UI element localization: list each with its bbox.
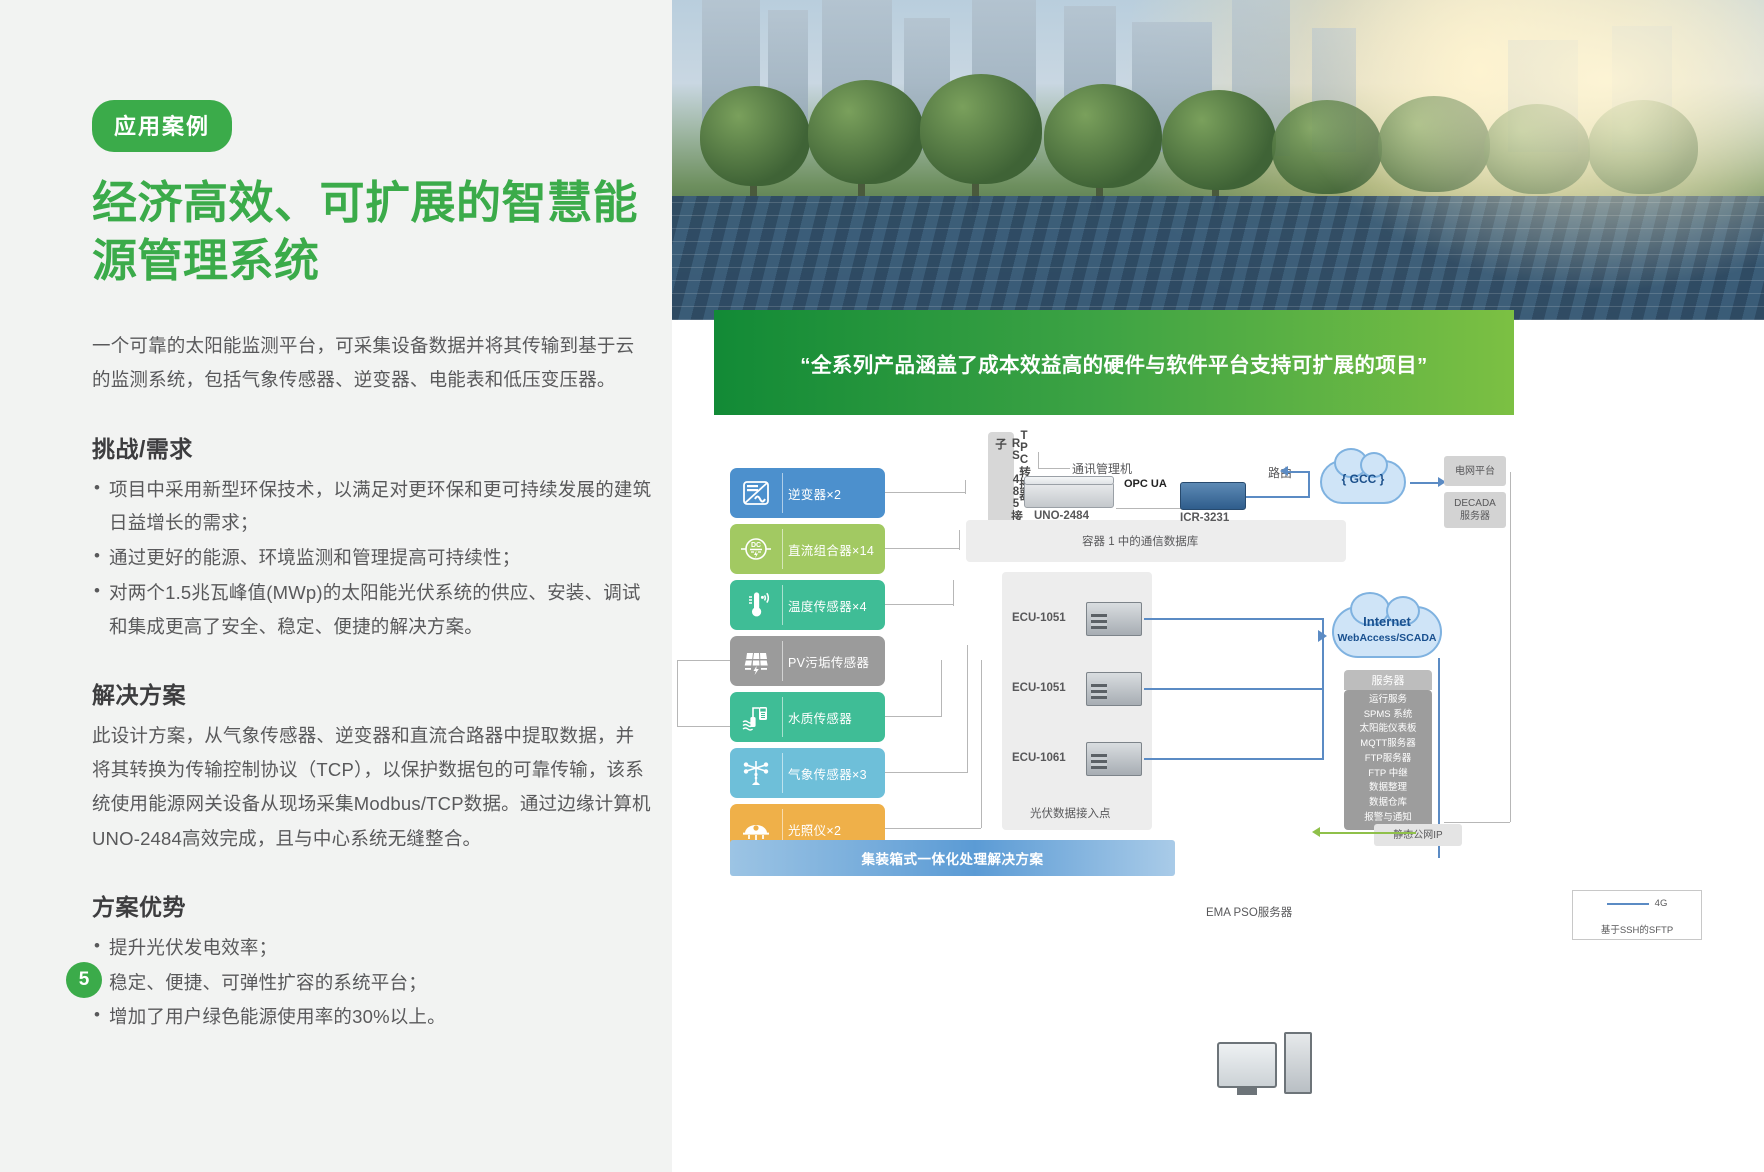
list-item: 稳定、便捷、可弹性扩容的系统平台； — [92, 966, 652, 1000]
challenge-bullet-list: 项目中采用新型环保技术，以满足对更环保和更可持续发展的建筑日益增长的需求； 通过… — [92, 473, 652, 644]
decada-line2: 服务器 — [1460, 510, 1490, 523]
list-item: 对两个1.5兆瓦峰值(MWp)的太阳能光伏系统的供应、安装、调试和集成更高了安全… — [92, 576, 652, 644]
section-heading-challenge: 挑战/需求 — [92, 430, 652, 464]
svg-text:DC: DC — [751, 542, 761, 549]
container-solution-banner: 集装箱式一体化处理解决方案 — [730, 840, 1175, 876]
dc-combiner-icon: DC — [730, 524, 782, 574]
device-label: 水质传感器 — [782, 708, 885, 727]
pv-soiling-sensor-icon — [730, 636, 782, 686]
hero-photo — [672, 0, 1764, 320]
device-label: 光照仪×2 — [782, 820, 885, 839]
ecu-device-1 — [1086, 602, 1142, 636]
webaccess-scada-label: WebAccess/SCADA — [1328, 632, 1446, 644]
uno-2484-device — [1024, 482, 1114, 508]
solution-paragraph: 此设计方案，从气象传感器、逆变器和直流合路器中提取数据，并将其转换为传输控制协议… — [92, 719, 652, 856]
list-item: 运行服务 — [1344, 693, 1432, 708]
ecu-label-1: ECU-1051 — [1012, 612, 1066, 624]
ema-pso-label: EMA PSO服务器 — [1206, 904, 1292, 920]
list-item: 提升光伏发电效率； — [92, 931, 652, 965]
solar-panel-field — [672, 196, 1764, 320]
case-study-badge: 应用案例 — [92, 100, 232, 152]
opc-ua-badge: OPC UA — [1124, 478, 1167, 490]
container-db-label: 容器 1 中的通信数据库 — [1082, 533, 1198, 549]
legend-line-solid-icon — [1607, 903, 1649, 905]
inverter-icon — [730, 468, 782, 518]
comm-manager-label: 通讯管理机 — [1072, 460, 1132, 477]
list-item: SPMS 系统 — [1344, 708, 1432, 723]
server-tower-icon — [1284, 1032, 1312, 1094]
icr-3231-label: ICR-3231 — [1180, 512, 1229, 524]
section-heading-benefits: 方案优势 — [92, 888, 652, 922]
legend-label: 4G — [1655, 898, 1668, 909]
legend-box: 4G 基于SSH的SFTP — [1572, 890, 1702, 940]
list-item: 太阳能仪表板 — [1344, 722, 1432, 737]
device-label: 直流组合器×14 — [782, 540, 885, 559]
list-item: FTP服务器 — [1344, 752, 1432, 767]
device-inverter[interactable]: 逆变器×2 — [730, 468, 885, 518]
temperature-sensor-icon — [730, 580, 782, 630]
page-number-badge: 5 — [66, 962, 102, 998]
section-heading-solution: 解决方案 — [92, 676, 652, 710]
legend-row-sftp: 基于SSH的SFTP — [1573, 916, 1701, 941]
monitor-stand-icon — [1237, 1088, 1257, 1095]
system-architecture-diagram: 逆变器×2 DC 直流组合器×14 — [672, 420, 1764, 1172]
decada-line1: DECADA — [1454, 497, 1496, 510]
legend-row-4g: 4G — [1573, 891, 1701, 916]
device-water-quality-sensor[interactable]: 水质传感器 — [730, 692, 885, 742]
monitor-icon — [1217, 1042, 1277, 1088]
device-label: 逆变器×2 — [782, 484, 885, 503]
list-item: 增加了用户绿色能源使用率的30%以上。 — [92, 1000, 652, 1034]
device-temperature-sensor[interactable]: 温度传感器×4 — [730, 580, 885, 630]
icr-3231-device — [1180, 482, 1246, 510]
left-content: 应用案例 经济高效、可扩展的智慧能源管理系统 一个可靠的太阳能监测平台，可采集设… — [92, 0, 652, 1035]
device-pv-soiling-sensor[interactable]: PV污垢传感器 — [730, 636, 885, 686]
internet-label: Internet — [1332, 614, 1442, 629]
device-weather-sensor[interactable]: 气象传感器×3 — [730, 748, 885, 798]
uno-2484-label: UNO-2484 — [1034, 510, 1089, 522]
left-article-panel: 应用案例 经济高效、可扩展的智慧能源管理系统 一个可靠的太阳能监测平台，可采集设… — [0, 0, 672, 1172]
decada-server-box: DECADA 服务器 — [1444, 492, 1506, 528]
grid-platform-box: 电网平台 — [1444, 456, 1506, 486]
ecu-label-2: ECU-1051 — [1012, 682, 1066, 694]
ecu-device-2 — [1086, 672, 1142, 706]
static-ip-box: 静态公网IP — [1374, 824, 1462, 846]
gcc-label: { GCC } — [1320, 472, 1406, 486]
list-item: 项目中采用新型环保技术，以满足对更环保和更可持续发展的建筑日益增长的需求； — [92, 473, 652, 541]
legend-label: 基于SSH的SFTP — [1601, 922, 1673, 936]
device-label: 气象传感器×3 — [782, 764, 885, 783]
device-label: 温度传感器×4 — [782, 596, 885, 615]
list-item: MQTT服务器 — [1344, 737, 1432, 752]
ecu-device-3 — [1086, 742, 1142, 776]
list-item: FTP 中继 — [1344, 767, 1432, 782]
uno-2484-top — [1024, 476, 1114, 485]
list-item: 数据仓库 — [1344, 796, 1432, 811]
device-dc-combiner[interactable]: DC 直流组合器×14 — [730, 524, 885, 574]
server-service-list: 运行服务 SPMS 系统 太阳能仪表板 MQTT服务器 FTP服务器 FTP 中… — [1344, 690, 1432, 830]
router-arrow-icon — [1280, 466, 1288, 476]
quote-banner: “全系列产品涵盖了成本效益高的硬件与软件平台支持可扩展的项目” — [714, 310, 1514, 415]
server-title: 服务器 — [1344, 670, 1432, 690]
list-item: 数据整理 — [1344, 781, 1432, 796]
internet-arrow-icon — [1318, 630, 1327, 642]
ecu-label-3: ECU-1061 — [1012, 752, 1066, 764]
benefits-bullet-list: 提升光伏发电效率； 稳定、便捷、可弹性扩容的系统平台； 增加了用户绿色能源使用率… — [92, 931, 652, 1035]
device-label: PV污垢传感器 — [782, 652, 885, 671]
weather-sensor-icon — [730, 748, 782, 798]
water-quality-sensor-icon — [730, 692, 782, 742]
pv-access-label: 光伏数据接入点 — [1030, 805, 1111, 821]
intro-paragraph: 一个可靠的太阳能监测平台，可采集设备数据并将其传输到基于云的监测系统，包括气象传… — [92, 329, 652, 397]
ema-arrow-icon — [1312, 827, 1320, 837]
page-title: 经济高效、可扩展的智慧能源管理系统 — [92, 174, 652, 289]
list-item: 通过更好的能源、环境监测和管理提高可持续性； — [92, 541, 652, 575]
